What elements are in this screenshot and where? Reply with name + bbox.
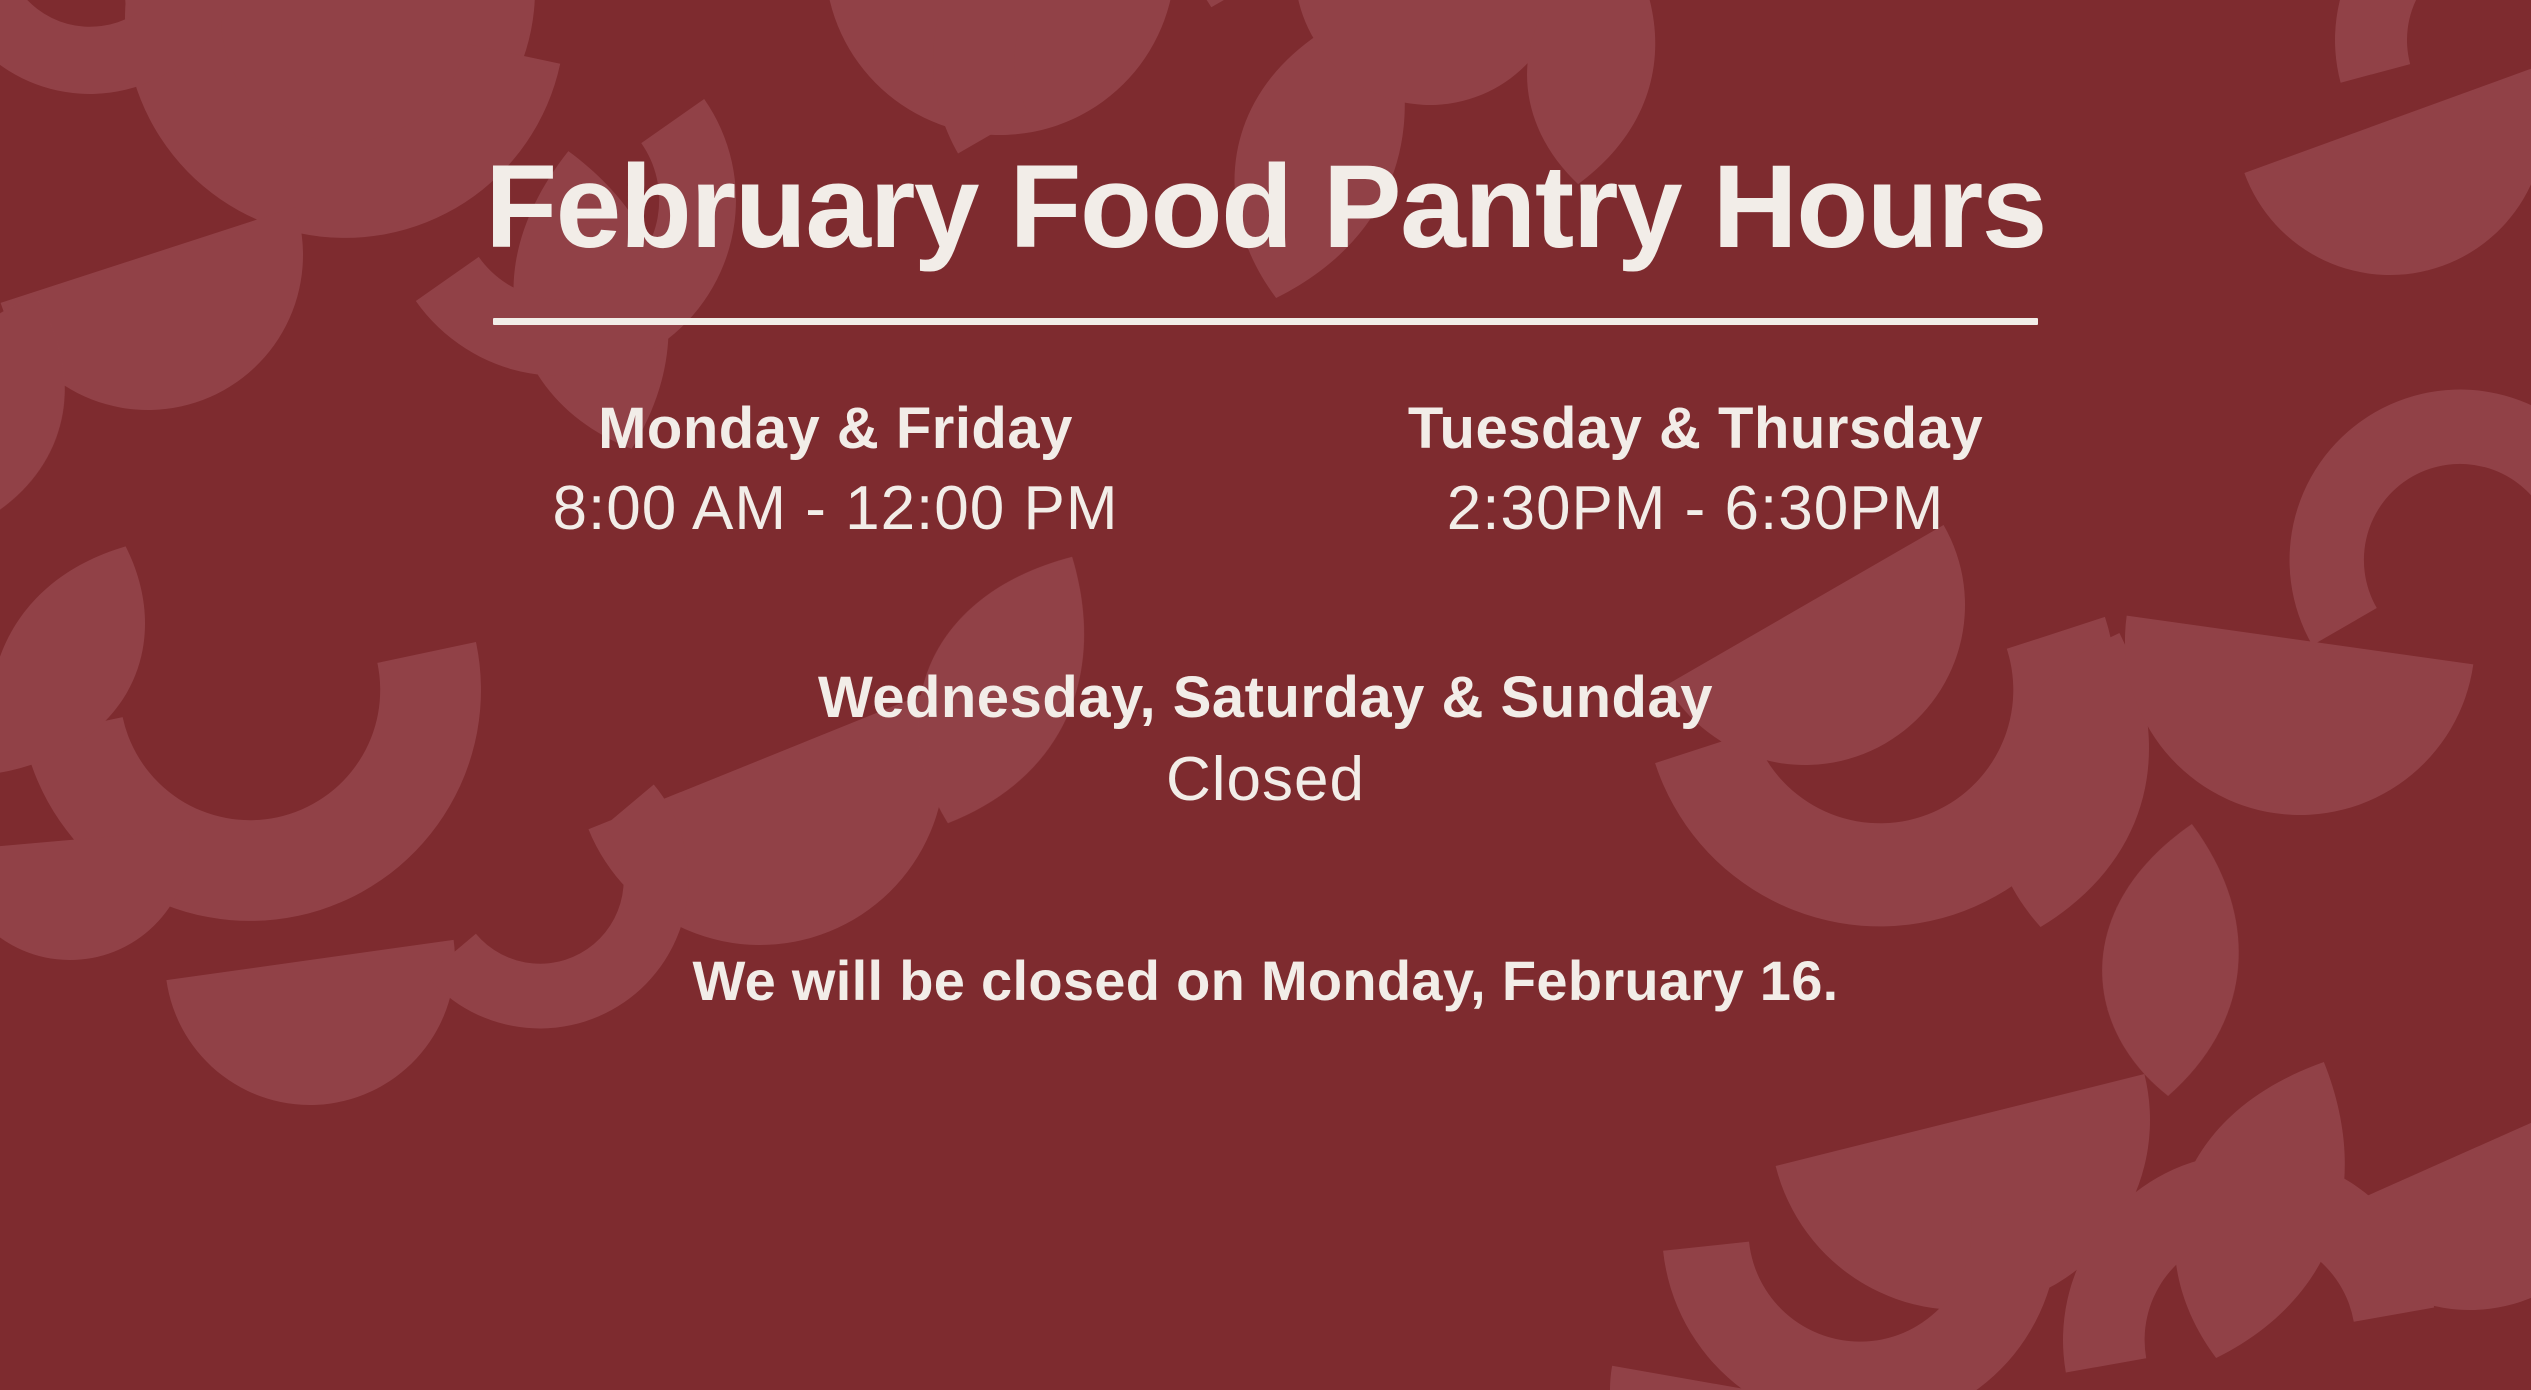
hours-value-closed: Closed	[0, 743, 2531, 817]
hours-value-monday-friday: 8:00 AM - 12:00 PM	[406, 472, 1266, 546]
days-label-tuesday-thursday: Tuesday & Thursday	[1266, 397, 2126, 462]
closed-days-section: Wednesday, Saturday & Sunday Closed	[0, 666, 2531, 817]
hours-columns: Monday & Friday 8:00 AM - 12:00 PM Tuesd…	[0, 397, 2531, 546]
days-label-monday-friday: Monday & Friday	[406, 397, 1266, 462]
page-title: February Food Pantry Hours	[0, 148, 2531, 266]
poster-content: February Food Pantry Hours Monday & Frid…	[0, 0, 2531, 1390]
holiday-closure-notice: We will be closed on Monday, February 16…	[0, 948, 2531, 1013]
food-pantry-hours-poster: February Food Pantry Hours Monday & Frid…	[0, 0, 2531, 1390]
hours-value-tuesday-thursday: 2:30PM - 6:30PM	[1266, 472, 2126, 546]
days-label-closed: Wednesday, Saturday & Sunday	[0, 666, 2531, 731]
title-section: February Food Pantry Hours	[0, 148, 2531, 325]
hours-column-monday-friday: Monday & Friday 8:00 AM - 12:00 PM	[406, 397, 1266, 546]
title-divider-rule	[493, 318, 2038, 325]
hours-column-tuesday-thursday: Tuesday & Thursday 2:30PM - 6:30PM	[1266, 397, 2126, 546]
